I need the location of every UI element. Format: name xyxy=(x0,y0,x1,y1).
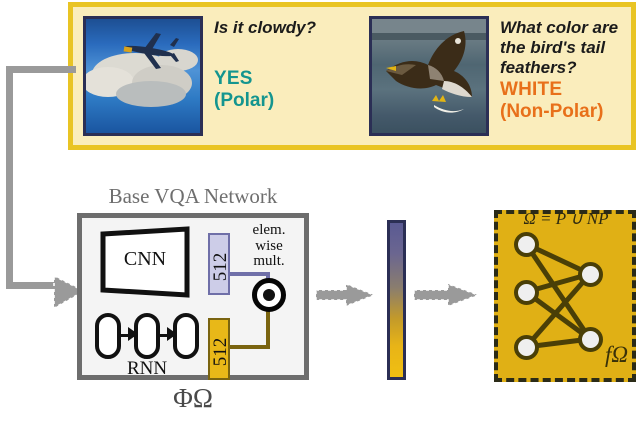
text-feature-vector: 512 xyxy=(208,318,230,380)
example-polar: Is it clowdy? YES (Polar) xyxy=(73,7,365,145)
nonpolar-answer: WHITE xyxy=(500,79,631,101)
network-node xyxy=(514,280,539,305)
eagle-silhouette-icon xyxy=(372,19,489,136)
answer-space-equation: Ω = P ∪ NP xyxy=(500,209,632,229)
image-vector-wire xyxy=(230,272,270,276)
text-vector-wire xyxy=(230,345,270,349)
polar-example-qa: Is it clowdy? YES (Polar) xyxy=(203,16,365,112)
network-node xyxy=(514,232,539,257)
example-nonpolar: What color are the bird's tail feathers?… xyxy=(365,7,631,145)
image-feature-vector-label: 512 xyxy=(210,236,232,298)
text-feature-vector-label: 512 xyxy=(210,321,232,383)
nonpolar-example-qa: What color are the bird's tail feathers?… xyxy=(489,16,631,123)
rnn-label: RNN xyxy=(95,358,199,380)
examples-banner: Is it clowdy? YES (Polar) What color are… xyxy=(68,2,636,150)
network-node xyxy=(578,262,603,287)
flow-arrow-network-to-features xyxy=(316,281,378,307)
rnn-arrowhead-icon xyxy=(128,326,140,342)
polar-polarity-label: (Polar) xyxy=(214,90,365,112)
rnn-cell xyxy=(95,313,121,359)
image-feature-vector: 512 xyxy=(208,233,230,295)
eagle-over-water-thumbnail xyxy=(369,16,489,136)
joint-embedding-vector xyxy=(387,220,406,380)
elementwise-multiply-caption: elem. wise mult. xyxy=(232,223,306,270)
page-title: Base VQA Network xyxy=(78,184,308,209)
fusion-caption-line: elem. xyxy=(253,222,286,238)
airplane-in-cloudy-sky-thumbnail xyxy=(83,16,203,136)
fusion-caption-line: wise xyxy=(255,238,283,254)
multiply-dot-icon xyxy=(263,289,275,301)
examples-to-network-feedback-connector xyxy=(6,66,76,296)
cnn-label: CNN xyxy=(100,248,190,271)
network-node xyxy=(578,327,603,352)
base-network-symbol-label: ΦΩ xyxy=(77,383,309,414)
airplane-silhouette-icon xyxy=(86,19,203,136)
polar-question: Is it clowdy? xyxy=(214,18,365,38)
rnn-arrowhead-icon xyxy=(167,326,179,342)
nonpolar-polarity-label: (Non-Polar) xyxy=(500,101,631,123)
network-node xyxy=(514,335,539,360)
text-vector-wire xyxy=(266,307,270,349)
fusion-caption-line: mult. xyxy=(253,253,284,269)
flow-arrow-features-to-answer-net xyxy=(414,281,484,307)
nonpolar-question: What color are the bird's tail feathers? xyxy=(500,18,631,79)
polar-answer: YES xyxy=(214,68,365,90)
